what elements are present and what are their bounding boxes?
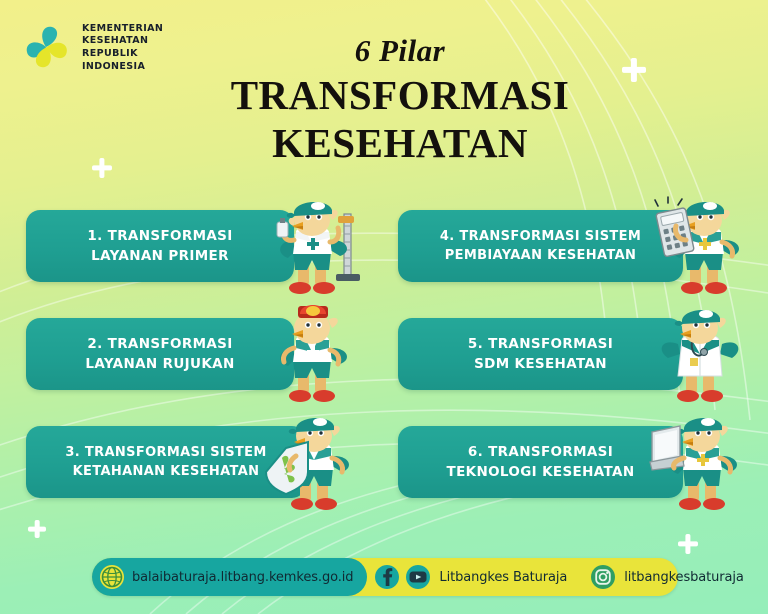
footer-contact-bar: balaibaturaja.litbang.kemkes.go.id Litba…: [92, 558, 678, 596]
mascot-shield: [266, 412, 372, 516]
pillar-card-3[interactable]: 3. TRANSFORMASI SISTEM KETAHANAN KESEHAT…: [26, 420, 374, 512]
globe-icon: [99, 564, 125, 590]
pillar-card-1[interactable]: 1. TRANSFORMASI LAYANAN PRIMER: [26, 204, 374, 296]
plus-decoration-bottom-right: [678, 534, 698, 554]
pillar-label-2: 2. TRANSFORMASI LAYANAN RUJUKAN: [85, 334, 234, 375]
pillar-pill-6[interactable]: 6. TRANSFORMASI TEKNOLOGI KESEHATAN: [398, 426, 683, 498]
title-line-2: KESEHATAN: [190, 119, 610, 167]
pillars-grid: 1. TRANSFORMASI LAYANAN PRIMER: [0, 196, 768, 516]
pillar-card-4[interactable]: 4. TRANSFORMASI SISTEM PEMBIAYAAN KESEHA…: [398, 204, 746, 296]
mascot-calculator: [650, 196, 756, 300]
facebook-icon[interactable]: [374, 564, 400, 590]
social-facebook-youtube[interactable]: Litbangkes Baturaja: [367, 564, 567, 590]
social-name: Litbangkes Baturaja: [439, 570, 567, 585]
pillar-label-4: 4. TRANSFORMASI SISTEM PEMBIAYAAN KESEHA…: [440, 227, 641, 266]
website-pill[interactable]: balaibaturaja.litbang.kemkes.go.id: [92, 558, 367, 596]
title-line-1: TRANSFORMASI: [190, 71, 610, 119]
instagram-icon[interactable]: [590, 564, 616, 590]
pillar-label-5: 5. TRANSFORMASI SDM KESEHATAN: [468, 334, 613, 375]
pillar-pill-1[interactable]: 1. TRANSFORMASI LAYANAN PRIMER: [26, 210, 294, 282]
pillar-pill-2[interactable]: 2. TRANSFORMASI LAYANAN RUJUKAN: [26, 318, 294, 390]
instagram-handle: litbangkesbaturaja: [624, 570, 744, 585]
pillar-card-5[interactable]: 5. TRANSFORMASI SDM KESEHATAN: [398, 312, 746, 404]
pillar-pill-4[interactable]: 4. TRANSFORMASI SISTEM PEMBIAYAAN KESEHA…: [398, 210, 683, 282]
social-instagram[interactable]: litbangkesbaturaja: [583, 564, 744, 590]
plus-decoration-left: [92, 158, 112, 178]
title-main: TRANSFORMASI KESEHATAN: [190, 71, 610, 168]
plus-decoration-top-right: [622, 58, 646, 82]
pillar-card-2[interactable]: 2. TRANSFORMASI LAYANAN RUJUKAN: [26, 312, 374, 404]
pillar-label-6: 6. TRANSFORMASI TEKNOLOGI KESEHATAN: [447, 442, 635, 483]
title-kicker: 6 Pilar: [190, 34, 610, 68]
mascot-height-scale: [266, 196, 372, 300]
plus-decoration-bottom-left: [28, 520, 46, 538]
mascot-doctor-coat: [650, 304, 756, 408]
page-title: 6 Pilar TRANSFORMASI KESEHATAN: [190, 34, 610, 168]
mascot-siren: [266, 304, 372, 408]
pillar-pill-3[interactable]: 3. TRANSFORMASI SISTEM KETAHANAN KESEHAT…: [26, 426, 306, 498]
kemenkes-logo: KEMENTERIAN KESEHATAN REPUBLIK INDONESIA: [22, 22, 163, 74]
kemenkes-logo-mark: [22, 22, 72, 74]
kemenkes-logo-text: KEMENTERIAN KESEHATAN REPUBLIK INDONESIA: [82, 23, 163, 73]
pillar-label-3: 3. TRANSFORMASI SISTEM KETAHANAN KESEHAT…: [65, 443, 266, 482]
pillar-pill-5[interactable]: 5. TRANSFORMASI SDM KESEHATAN: [398, 318, 683, 390]
youtube-icon[interactable]: [405, 564, 431, 590]
poster-canvas: KEMENTERIAN KESEHATAN REPUBLIK INDONESIA…: [0, 0, 768, 614]
website-url: balaibaturaja.litbang.kemkes.go.id: [132, 570, 353, 585]
pillar-card-6[interactable]: 6. TRANSFORMASI TEKNOLOGI KESEHATAN: [398, 420, 746, 512]
mascot-laptop: [650, 412, 756, 516]
pillar-label-1: 1. TRANSFORMASI LAYANAN PRIMER: [87, 226, 232, 267]
